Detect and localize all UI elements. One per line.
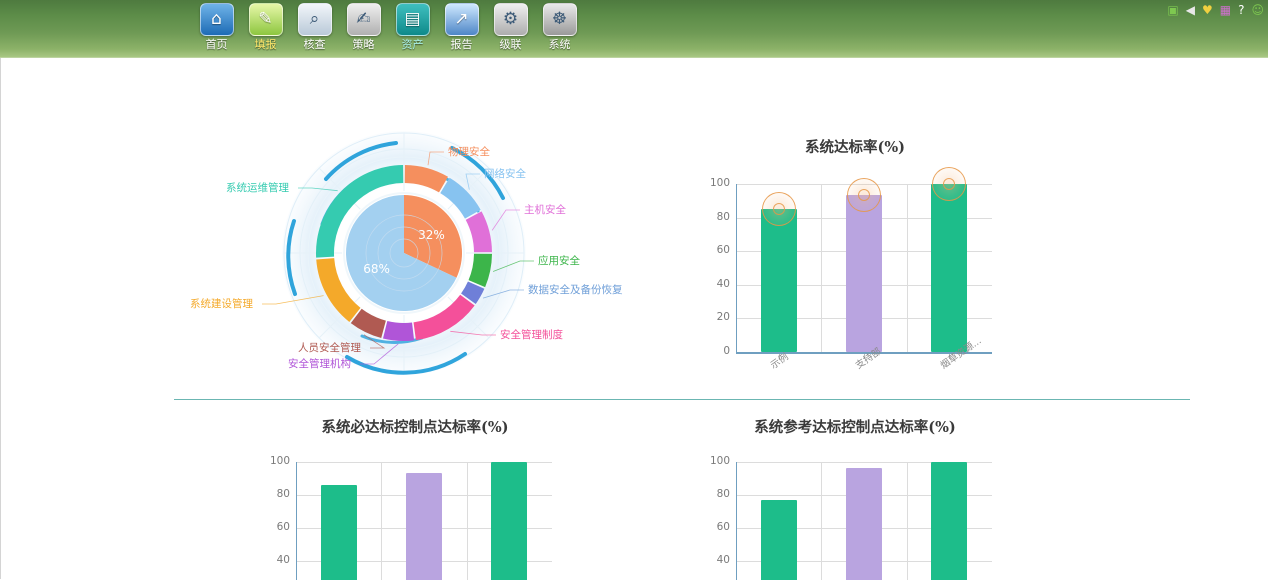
y-axis-tick-label: 80 [700, 488, 730, 500]
form-icon[interactable]: ✎ [249, 3, 283, 36]
y-axis-tick-label: 100 [700, 177, 730, 189]
y-axis-line [736, 462, 737, 580]
assets-icon-glyph: ▤ [404, 11, 420, 28]
chart-title: 系统达标率(%) [690, 136, 1020, 157]
y-axis-tick-label: 40 [260, 554, 290, 566]
chart-required-points: 系统必达标控制点达标率(%) 020406080100 [250, 416, 580, 580]
system-icon-glyph: ☸ [552, 11, 567, 28]
bar[interactable] [846, 468, 882, 580]
bar-value-marker-inner [943, 178, 955, 190]
y-axis-tick-label: 60 [260, 521, 290, 533]
toolbar-item-home[interactable]: ⌂首页 [196, 3, 237, 51]
home-icon-glyph: ⌂ [211, 11, 222, 28]
bar[interactable] [761, 500, 797, 580]
toolbar-item-report[interactable]: ↗报告 [441, 3, 482, 51]
toolbar-item-label: 报告 [451, 38, 473, 51]
vertical-gridline [467, 462, 468, 580]
donut-segment-label: 人员安全管理 [298, 342, 361, 354]
toolbar-item-label: 级联 [500, 38, 522, 51]
donut-segment-label: 安全管理机构 [288, 358, 351, 370]
toolbar-item-cascade[interactable]: ⚙级联 [490, 3, 531, 51]
y-axis-tick-label: 60 [700, 521, 730, 533]
volume-icon[interactable]: ◀ [1186, 3, 1195, 17]
toolbar-item-system[interactable]: ☸系统 [539, 3, 580, 51]
network-icon[interactable]: ▣ [1167, 3, 1178, 17]
bar[interactable] [321, 485, 357, 580]
donut-segment-label: 主机安全 [524, 204, 566, 216]
y-axis-tick-label: 100 [700, 455, 730, 467]
dashboard-content: 物理安全网络安全主机安全应用安全数据安全及备份恢复安全管理制度安全管理机构人员安… [0, 58, 1268, 579]
toolbar-item-label: 系统 [549, 38, 571, 51]
toolbar-item-label: 首页 [206, 38, 228, 51]
help-icon[interactable]: ? [1238, 3, 1244, 17]
chart-title: 系统必达标控制点达标率(%) [250, 416, 580, 437]
donut-inner-pie [346, 195, 462, 311]
toolbar-item-assets[interactable]: ▤资产 [392, 3, 433, 51]
donut-segment-label: 网络安全 [484, 168, 526, 180]
report-icon[interactable]: ↗ [445, 3, 479, 36]
y-axis-tick-label: 80 [700, 211, 730, 223]
inspect-icon[interactable]: ⌕ [298, 3, 332, 36]
y-axis-tick-label: 40 [700, 278, 730, 290]
bar[interactable] [491, 462, 527, 580]
y-axis-tick-label: 100 [260, 455, 290, 467]
vertical-gridline [907, 184, 908, 352]
toolbar-item-list: ⌂首页✎填报⌕核查✍策略▤资产↗报告⚙级联☸系统 [196, 3, 580, 51]
toolbar-item-label: 填报 [255, 38, 277, 51]
donut-inner-percent-label: 32% [417, 229, 445, 241]
vertical-gridline [821, 184, 822, 352]
toolbar-item-inspect[interactable]: ⌕核查 [294, 3, 335, 51]
toolbar-item-label: 资产 [402, 38, 424, 51]
system-tray: ▣◀♥▦?☺ [1167, 3, 1264, 17]
chart-reference-points: 系统参考达标控制点达标率(%) 020406080100 [690, 416, 1020, 580]
chart-title: 系统参考达标控制点达标率(%) [690, 416, 1020, 437]
y-axis-tick-label: 80 [260, 488, 290, 500]
vertical-gridline [907, 462, 908, 580]
policy-icon-glyph: ✍ [356, 11, 370, 28]
section-divider [174, 399, 1190, 400]
cascade-icon-glyph: ⚙ [503, 11, 518, 28]
security-donut-chart: 物理安全网络安全主机安全应用安全数据安全及备份恢复安全管理制度安全管理机构人员安… [252, 126, 672, 386]
toolbar-item-form[interactable]: ✎填报 [245, 3, 286, 51]
vertical-gridline [381, 462, 382, 580]
vertical-gridline [821, 462, 822, 580]
cascade-icon[interactable]: ⚙ [494, 3, 528, 36]
bar[interactable] [761, 209, 797, 352]
bar-value-marker-inner [858, 189, 870, 201]
toolbar-item-label: 核查 [304, 38, 326, 51]
bar[interactable] [931, 462, 967, 580]
chart-system-rate: 系统达标率(%) 020406080100示例支持部烟草资源... [690, 136, 1020, 396]
bar-value-marker-inner [773, 203, 785, 215]
system-icon[interactable]: ☸ [543, 3, 577, 36]
grid-icon[interactable]: ▦ [1220, 3, 1231, 17]
left-rail-divider [0, 58, 1, 579]
donut-segment[interactable] [383, 321, 414, 341]
donut-segment-label: 应用安全 [538, 255, 580, 267]
y-axis-tick-label: 0 [700, 345, 730, 357]
inspect-icon-glyph: ⌕ [310, 11, 320, 28]
donut-segment-label: 物理安全 [448, 146, 490, 158]
toolbar-item-policy[interactable]: ✍策略 [343, 3, 384, 51]
user-icon[interactable]: ☺ [1251, 3, 1264, 17]
home-icon[interactable]: ⌂ [200, 3, 234, 36]
y-axis-tick-label: 20 [700, 311, 730, 323]
report-icon-glyph: ↗ [454, 11, 468, 28]
donut-segment-label: 系统建设管理 [190, 298, 253, 310]
shield-icon[interactable]: ♥ [1202, 3, 1213, 17]
bar[interactable] [931, 184, 967, 352]
form-icon-glyph: ✎ [258, 11, 272, 28]
y-axis-line [296, 462, 297, 580]
donut-inner-percent-label: 68% [363, 263, 391, 275]
assets-icon[interactable]: ▤ [396, 3, 430, 36]
y-axis-tick-label: 60 [700, 244, 730, 256]
toolbar-item-label: 策略 [353, 38, 375, 51]
policy-icon[interactable]: ✍ [347, 3, 381, 36]
y-axis-tick-label: 40 [700, 554, 730, 566]
donut-segment-label: 安全管理制度 [500, 329, 563, 341]
donut-segment-label: 数据安全及备份恢复 [528, 284, 623, 296]
y-axis-line [736, 184, 737, 353]
donut-segment-label: 系统运维管理 [226, 182, 289, 194]
top-toolbar: ⌂首页✎填报⌕核查✍策略▤资产↗报告⚙级联☸系统 ▣◀♥▦?☺ [0, 0, 1268, 58]
bar[interactable] [406, 473, 442, 580]
bar[interactable] [846, 195, 882, 352]
